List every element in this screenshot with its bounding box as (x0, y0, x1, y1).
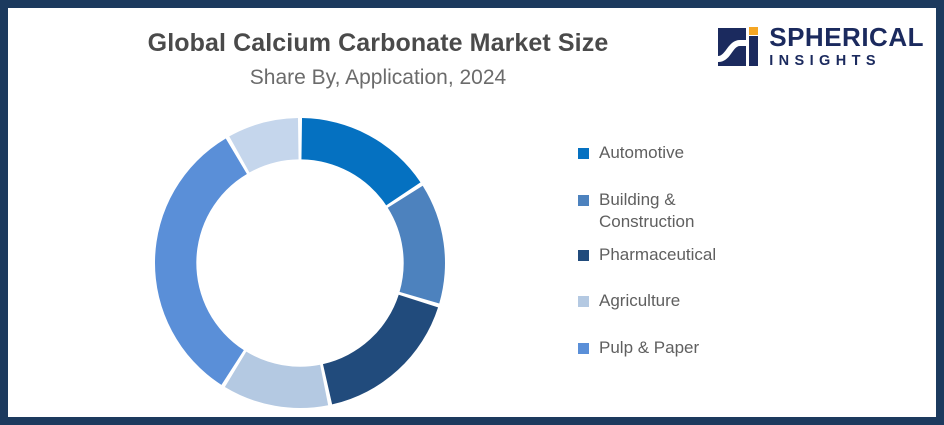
legend-item-label: Agriculture (599, 290, 680, 313)
logo-text-insights: INSIGHTS (769, 53, 924, 70)
legend-item-label: Building & Construction (599, 189, 749, 234)
donut-segment[interactable] (155, 138, 247, 384)
legend-item[interactable]: Pharmaceutical (578, 244, 828, 267)
legend-swatch-icon (578, 148, 589, 159)
donut-segment[interactable] (388, 186, 445, 304)
brand-logo: SPHERICAL INSIGHTS (716, 24, 924, 71)
donut-segment[interactable] (225, 352, 328, 408)
legend-swatch-icon (578, 250, 589, 261)
title-block: Global Calcium Carbonate Market Size Sha… (98, 28, 658, 92)
donut-segment[interactable] (323, 295, 438, 405)
chart-legend: AutomotiveBuilding & ConstructionPharmac… (578, 142, 828, 384)
chart-subtitle: Share By, Application, 2024 (98, 65, 658, 91)
logo-text-spherical: SPHERICAL (769, 24, 924, 51)
donut-segment[interactable] (301, 118, 420, 205)
legend-item[interactable]: Automotive (578, 142, 828, 165)
spherical-insights-logo-icon (716, 24, 760, 70)
legend-swatch-icon (578, 343, 589, 354)
donut-chart-svg (152, 115, 448, 411)
chart-title: Global Calcium Carbonate Market Size (98, 28, 658, 59)
legend-swatch-icon (578, 195, 589, 206)
legend-item-label: Pharmaceutical (599, 244, 716, 267)
donut-segment-group (155, 118, 445, 408)
legend-item-label: Automotive (599, 142, 684, 165)
legend-swatch-icon (578, 296, 589, 307)
legend-item[interactable]: Agriculture (578, 290, 828, 313)
chart-card: Global Calcium Carbonate Market Size Sha… (0, 0, 944, 425)
donut-chart (152, 115, 448, 411)
legend-item-label: Pulp & Paper (599, 337, 699, 360)
logo-wordmark: SPHERICAL INSIGHTS (769, 24, 924, 71)
legend-item[interactable]: Pulp & Paper (578, 337, 828, 360)
legend-item[interactable]: Building & Construction (578, 189, 828, 234)
card-header: Global Calcium Carbonate Market Size Sha… (8, 8, 936, 108)
